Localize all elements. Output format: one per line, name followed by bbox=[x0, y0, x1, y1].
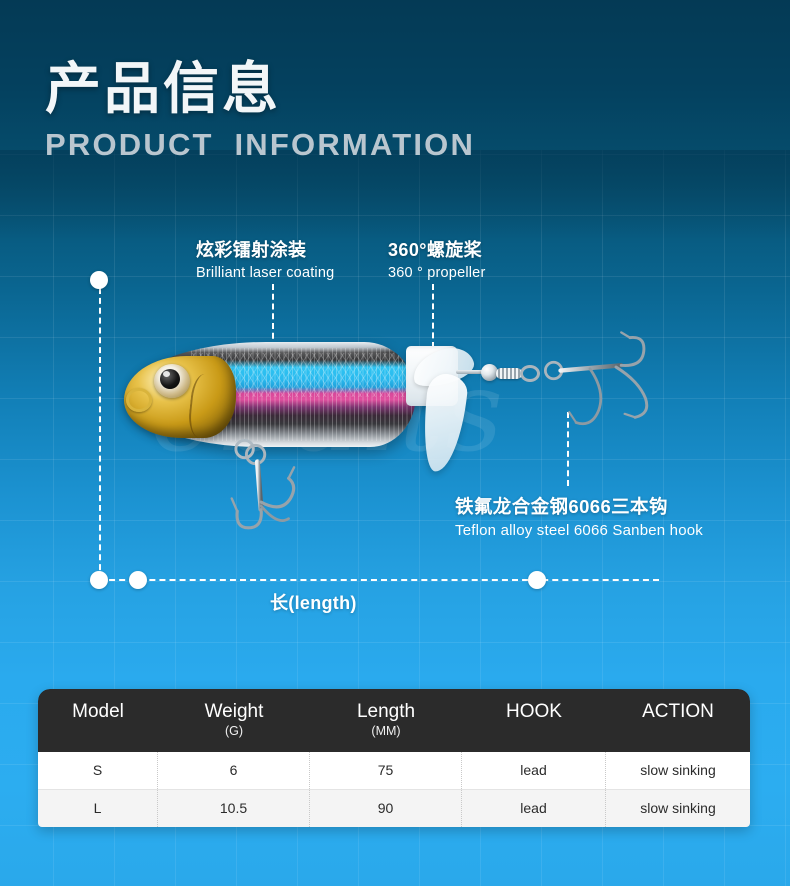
cell-action: slow sinking bbox=[606, 790, 750, 827]
cell-weight: 10.5 bbox=[158, 790, 310, 827]
table-row: L 10.5 90 lead slow sinking bbox=[38, 789, 750, 827]
callout-propeller-cn: 360°螺旋桨 bbox=[388, 236, 485, 262]
bottom-border bbox=[0, 886, 790, 893]
swivel bbox=[496, 364, 542, 382]
callout-laser-coating-en: Brilliant laser coating bbox=[196, 265, 334, 281]
column-header-weight-unit: (G) bbox=[162, 725, 306, 739]
measurement-horizontal-line bbox=[99, 579, 659, 581]
cell-weight: 6 bbox=[158, 752, 310, 789]
lure-body bbox=[128, 342, 416, 447]
cell-length: 75 bbox=[310, 752, 462, 789]
lure-product-image bbox=[128, 330, 688, 560]
swivel-eye bbox=[520, 365, 540, 382]
column-header-model: Model bbox=[38, 689, 158, 752]
swivel-coil bbox=[496, 368, 522, 379]
rear-treble-hook bbox=[538, 322, 668, 452]
spec-table-header-row: Model Weight (G) Length (MM) HOOK ACTION bbox=[38, 689, 750, 752]
cell-hook: lead bbox=[462, 790, 606, 827]
callout-propeller-en: 360 ° propeller bbox=[388, 265, 485, 281]
measurement-dot-right bbox=[528, 571, 546, 589]
propeller-assembly bbox=[406, 344, 486, 484]
cell-hook: lead bbox=[462, 752, 606, 789]
cell-model: L bbox=[38, 790, 158, 827]
cell-length: 90 bbox=[310, 790, 462, 827]
column-header-weight-label: Weight bbox=[205, 701, 264, 722]
spec-table: Model Weight (G) Length (MM) HOOK ACTION… bbox=[38, 689, 750, 827]
column-header-length: Length (MM) bbox=[310, 689, 462, 752]
lure-line-tie-ring bbox=[126, 388, 152, 412]
table-row: S 6 75 lead slow sinking bbox=[38, 752, 750, 789]
lure-gill-line bbox=[187, 373, 224, 440]
front-treble-hook bbox=[224, 438, 344, 548]
measurement-dot-nose bbox=[129, 571, 147, 589]
page-title: 产品信息 PRODUCT INFORMATION bbox=[45, 58, 475, 163]
column-header-hook-label: HOOK bbox=[506, 701, 562, 722]
product-information-graphic: ebaits 产品信息 PRODUCT INFORMATION 炫彩镭射涂装 B… bbox=[0, 0, 790, 893]
callout-propeller: 360°螺旋桨 360 ° propeller bbox=[388, 236, 485, 281]
column-header-model-label: Model bbox=[72, 701, 124, 722]
column-header-action: ACTION bbox=[606, 689, 750, 752]
callout-laser-coating: 炫彩镭射涂装 Brilliant laser coating bbox=[196, 236, 334, 281]
page-title-cn: 产品信息 bbox=[45, 58, 475, 121]
measurement-label: 长(length) bbox=[270, 589, 357, 615]
cell-model: S bbox=[38, 752, 158, 789]
column-header-hook: HOOK bbox=[462, 689, 606, 752]
column-header-length-label: Length bbox=[357, 701, 415, 722]
column-header-weight: Weight (G) bbox=[158, 689, 310, 752]
lure-pupil-highlight bbox=[163, 371, 170, 377]
cell-action: slow sinking bbox=[606, 752, 750, 789]
column-header-length-unit: (MM) bbox=[314, 725, 458, 739]
measurement-vertical-line bbox=[99, 288, 101, 580]
callout-laser-coating-cn: 炫彩镭射涂装 bbox=[196, 236, 334, 262]
column-header-action-label: ACTION bbox=[642, 701, 714, 722]
measurement-dot-left bbox=[90, 571, 108, 589]
page-title-en: PRODUCT INFORMATION bbox=[45, 127, 475, 163]
measurement-dot-top bbox=[90, 271, 108, 289]
